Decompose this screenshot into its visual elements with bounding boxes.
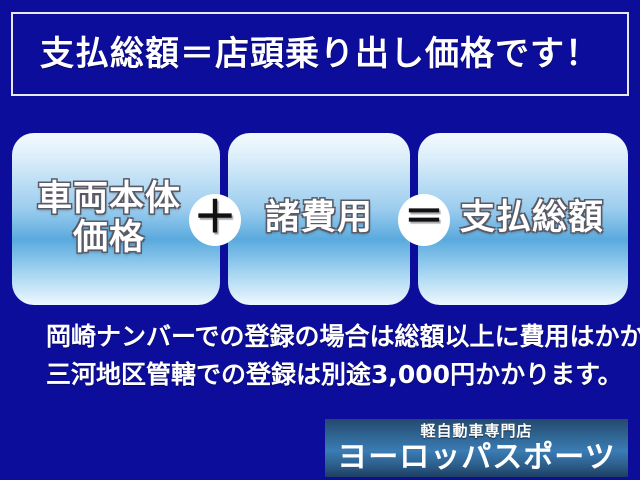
- shop-category-label: 軽自動車専門店: [420, 424, 532, 439]
- price-equation-row: 車両本体価格 諸費用 支払総額: [0, 133, 640, 305]
- headline-banner: 支払総額＝店頭乗り出し価格です！: [11, 12, 629, 96]
- price-explanation-banner: 支払総額＝店頭乗り出し価格です！ 車両本体価格 諸費用 支払総額 ＋ ＝ 岡崎ナ…: [0, 0, 640, 480]
- equals-operator-icon: ＝: [398, 194, 450, 246]
- card-total-payment-label: 支払総額: [442, 199, 604, 238]
- card-miscellaneous-fees-label: 諸費用: [265, 199, 373, 238]
- card-miscellaneous-fees: 諸費用: [228, 133, 410, 305]
- notes-block: 岡崎ナンバーでの登録の場合は総額以上に費用はかかりません。 三河地区管轄での登録…: [0, 318, 640, 394]
- plus-glyph: ＋: [193, 196, 237, 240]
- card-vehicle-base-price-label: 車両本体価格: [37, 180, 195, 258]
- plus-operator-icon: ＋: [189, 194, 241, 246]
- shop-name-label: ヨーロッパスポーツ: [337, 443, 615, 473]
- headline-text: 支払総額＝店頭乗り出し価格です！: [40, 37, 600, 71]
- shop-logo-plate: 軽自動車専門店 ヨーロッパスポーツ: [325, 419, 628, 477]
- note-line-okazaki-registration: 岡崎ナンバーでの登録の場合は総額以上に費用はかかりません。: [0, 318, 640, 356]
- equals-glyph: ＝: [404, 197, 444, 237]
- note-line-mikawa-registration: 三河地区管轄での登録は別途3,000円かかります。: [0, 356, 640, 394]
